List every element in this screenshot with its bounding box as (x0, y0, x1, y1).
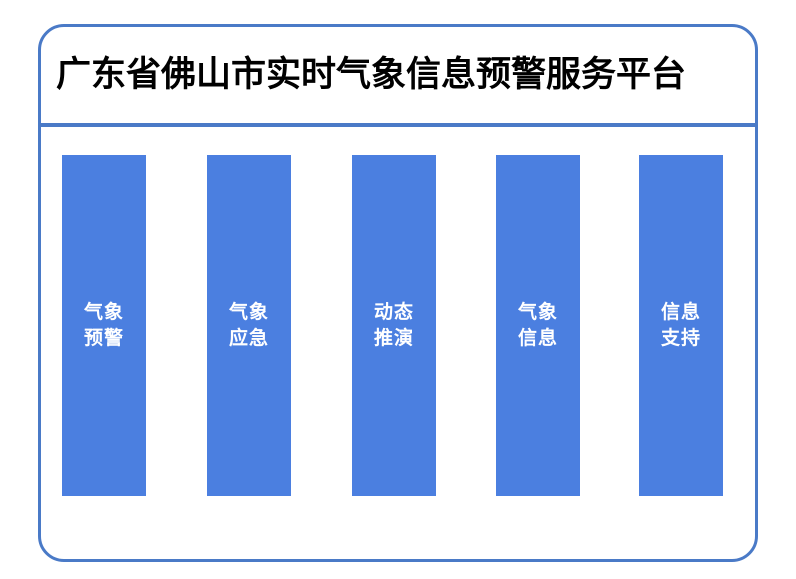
platform-frame: 广东省佛山市实时气象信息预警服务平台 气象 预警 气象 应急 动态 推演 (38, 24, 758, 562)
pillar-label-line1: 气象 (229, 300, 269, 325)
pillar-label-line1: 动态 (374, 300, 414, 325)
pillar-label-line1: 信息 (661, 300, 701, 325)
pillar-qixiang-yujing[interactable]: 气象 预警 (62, 155, 146, 496)
pillar-label: 气象 预警 (84, 300, 124, 350)
pillar-label-line1: 气象 (84, 300, 124, 325)
pillar-dongtai-tuiyan[interactable]: 动态 推演 (352, 155, 436, 496)
pillar-label-line2: 信息 (518, 326, 558, 351)
title-band: 广东省佛山市实时气象信息预警服务平台 (41, 27, 755, 123)
diagram-canvas: 广东省佛山市实时气象信息预警服务平台 气象 预警 气象 应急 动态 推演 (0, 0, 796, 579)
pillar-label-line2: 应急 (229, 326, 269, 351)
pillar-label: 气象 应急 (229, 300, 269, 350)
pillar-label: 气象 信息 (518, 300, 558, 350)
pillars-container: 气象 预警 气象 应急 动态 推演 气象 信息 (41, 127, 755, 559)
pillar-label-line1: 气象 (518, 300, 558, 325)
pillar-qixiang-xinxi[interactable]: 气象 信息 (496, 155, 580, 496)
page-title: 广东省佛山市实时气象信息预警服务平台 (56, 57, 686, 94)
pillar-xinxi-zhichi[interactable]: 信息 支持 (639, 155, 723, 496)
pillar-label-line2: 支持 (661, 326, 701, 351)
pillar-label: 信息 支持 (661, 300, 701, 350)
pillar-label-line2: 预警 (84, 326, 124, 351)
pillar-label: 动态 推演 (374, 300, 414, 350)
pillar-qixiang-yingji[interactable]: 气象 应急 (207, 155, 291, 496)
pillar-label-line2: 推演 (374, 326, 414, 351)
